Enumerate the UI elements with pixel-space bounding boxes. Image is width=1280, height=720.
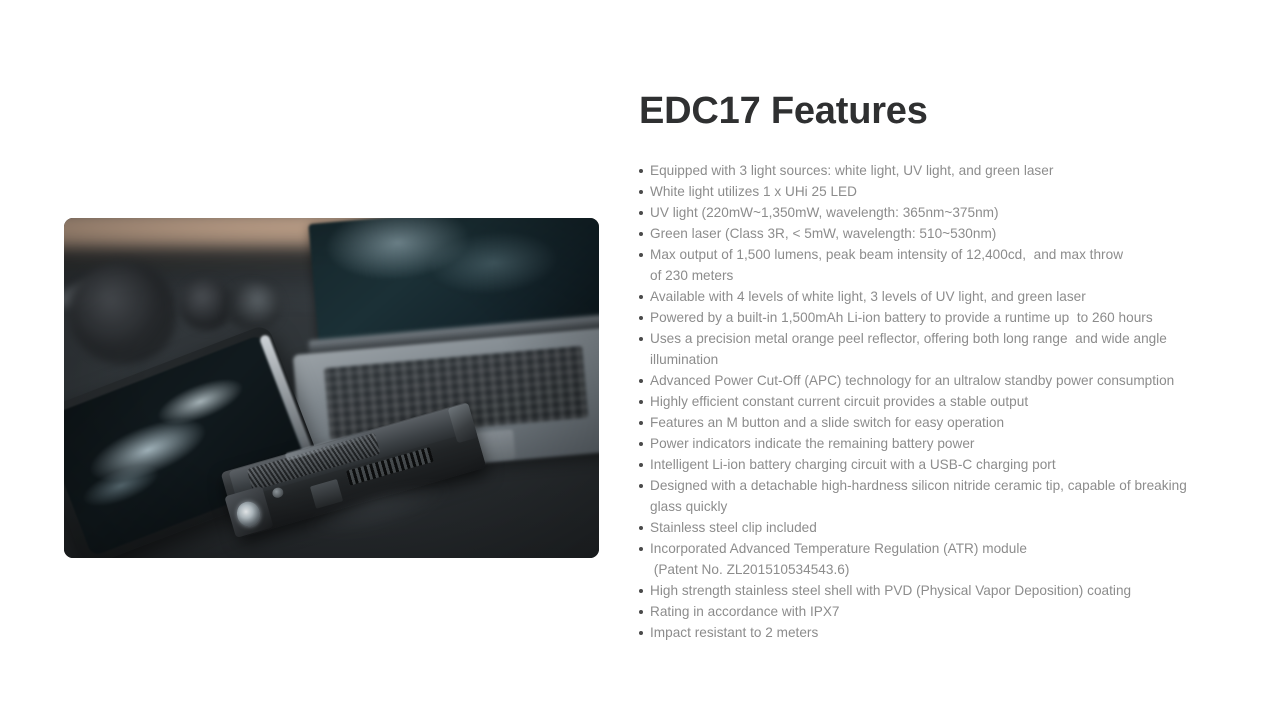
list-item: Incorporated Advanced Temperature Regula… [639, 538, 1239, 580]
list-item: Green laser (Class 3R, < 5mW, wavelength… [639, 223, 1239, 244]
page-title: EDC17 Features [639, 88, 1239, 134]
list-item: Designed with a detachable high-hardness… [639, 475, 1239, 517]
product-photo [64, 218, 599, 558]
feature-list: Equipped with 3 light sources: white lig… [639, 160, 1239, 643]
photo-desk-background [64, 218, 599, 558]
list-item: Uses a precision metal orange peel refle… [639, 328, 1239, 370]
list-item: Highly efficient constant current circui… [639, 391, 1239, 412]
list-item: Intelligent Li-ion battery charging circ… [639, 454, 1239, 475]
list-item: Power indicators indicate the remaining … [639, 433, 1239, 454]
list-item: Features an M button and a slide switch … [639, 412, 1239, 433]
list-item: UV light (220mW~1,350mW, wavelength: 365… [639, 202, 1239, 223]
list-item: Max output of 1,500 lumens, peak beam in… [639, 244, 1239, 286]
list-item: Powered by a built-in 1,500mAh Li-ion ba… [639, 307, 1239, 328]
list-item: White light utilizes 1 x UHi 25 LED [639, 181, 1239, 202]
list-item: Stainless steel clip included [639, 517, 1239, 538]
slide-root: EDC17 Features Equipped with 3 light sou… [0, 0, 1280, 720]
earbud-right [225, 283, 281, 331]
list-item: Available with 4 levels of white light, … [639, 286, 1239, 307]
list-item: Impact resistant to 2 meters [639, 622, 1239, 643]
features-section: EDC17 Features Equipped with 3 light sou… [639, 88, 1239, 643]
headphones [69, 262, 176, 364]
list-item: Rating in accordance with IPX7 [639, 601, 1239, 622]
list-item: Advanced Power Cut-Off (APC) technology … [639, 370, 1239, 391]
list-item: High strength stainless steel shell with… [639, 580, 1239, 601]
list-item: Equipped with 3 light sources: white lig… [639, 160, 1239, 181]
